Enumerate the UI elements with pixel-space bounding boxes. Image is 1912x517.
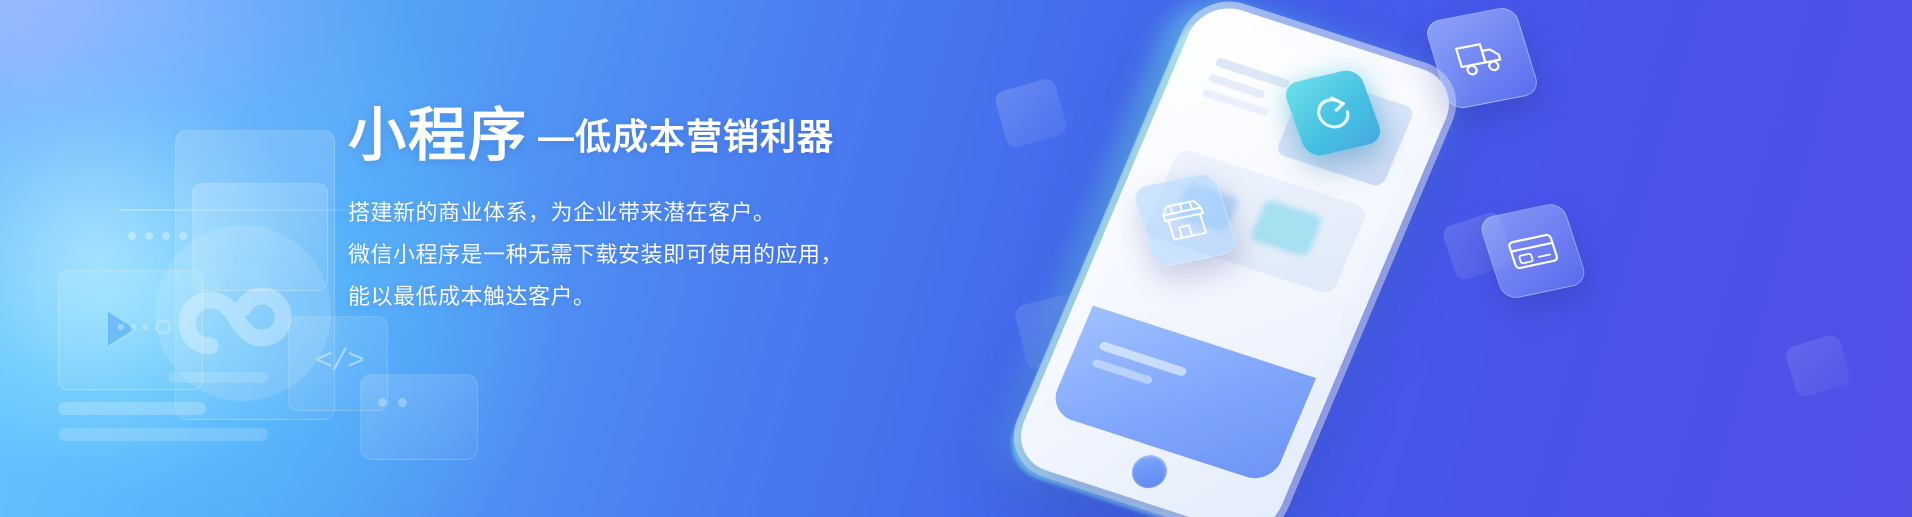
headline-sub-text: —低成本营销利器	[528, 108, 834, 165]
promo-banner: </> 小程序 —低成本营销利器 搭建新的商业体系，为企业带来潜在客户。 微信小…	[0, 0, 1912, 517]
decor-card-tall	[175, 130, 335, 420]
decor-float-square-5	[1784, 333, 1852, 398]
description-line-3: 能以最低成本触达客户。	[348, 276, 948, 318]
banner-copy: 小程序 —低成本营销利器 搭建新的商业体系，为企业带来潜在客户。 微信小程序是一…	[348, 106, 948, 318]
headline-main-text: 小程序	[348, 106, 528, 165]
decor-bar-short	[168, 372, 268, 383]
screen-footer-panel	[1047, 306, 1316, 485]
banner-description: 搭建新的商业体系，为企业带来潜在客户。 微信小程序是一种无需下载安装即可使用的应…	[348, 192, 948, 318]
decor-card-square	[192, 183, 328, 291]
decor-bubble-dots	[378, 398, 407, 407]
decor-mini-dots	[116, 320, 178, 334]
decor-bar-long	[58, 428, 268, 441]
phone-screen	[1047, 24, 1435, 485]
decor-bar-medium	[58, 402, 206, 415]
left-glow	[0, 60, 310, 460]
decor-code-card	[288, 316, 388, 411]
play-triangle-icon	[108, 312, 135, 346]
wechat-miniprogram-logo	[148, 218, 338, 408]
phone-home-button	[1127, 451, 1173, 493]
decor-media-card	[58, 270, 203, 390]
description-line-2: 微信小程序是一种无需下载安装即可使用的应用，	[348, 234, 948, 276]
decor-chat-bubble	[360, 374, 478, 460]
code-brackets-icon: </>	[300, 334, 378, 390]
decor-dots-row	[128, 232, 187, 240]
description-line-1: 搭建新的商业体系，为企业带来潜在客户。	[348, 192, 948, 234]
banner-headline: 小程序 —低成本营销利器	[348, 106, 948, 165]
